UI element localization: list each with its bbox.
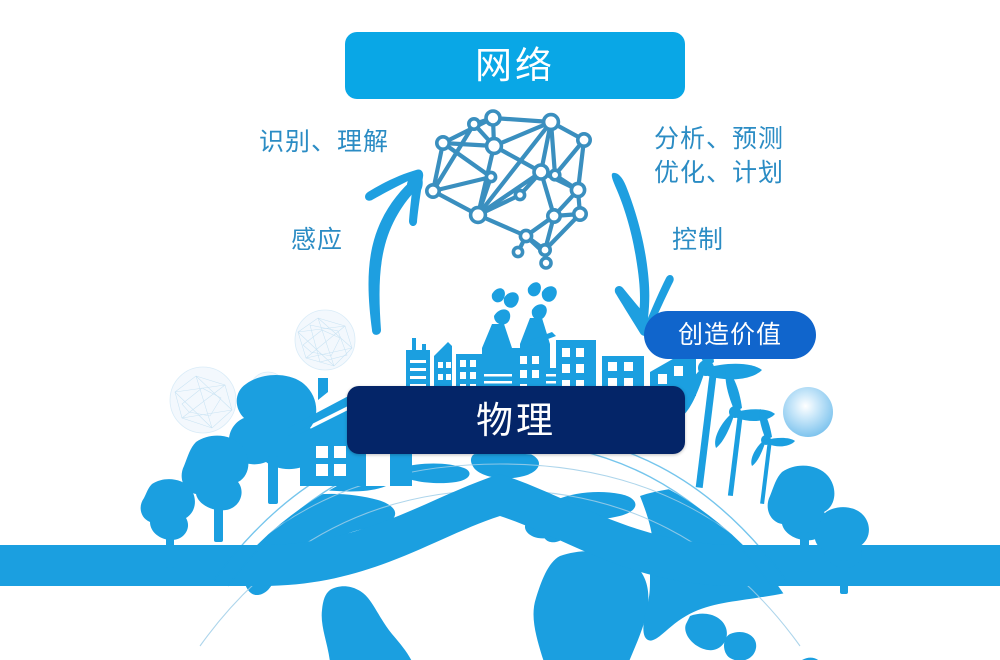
cyber-layer-box[interactable]: 网络: [345, 32, 685, 99]
arrow-up-curved-icon: [365, 169, 423, 334]
create-value-pill[interactable]: 创造价值: [644, 311, 816, 359]
physical-layer-box[interactable]: 物理: [347, 386, 685, 454]
flow-arrows: [0, 0, 1000, 660]
physical-layer-label: 物理: [476, 402, 556, 439]
create-value-label: 创造价值: [678, 323, 782, 348]
cyber-layer-label: 网络: [475, 47, 555, 84]
cyber-physical-system-diagram: 网络 物理 创造价值 识别、理解 感应 分析、预测 优化、计划 控制: [0, 0, 1000, 660]
